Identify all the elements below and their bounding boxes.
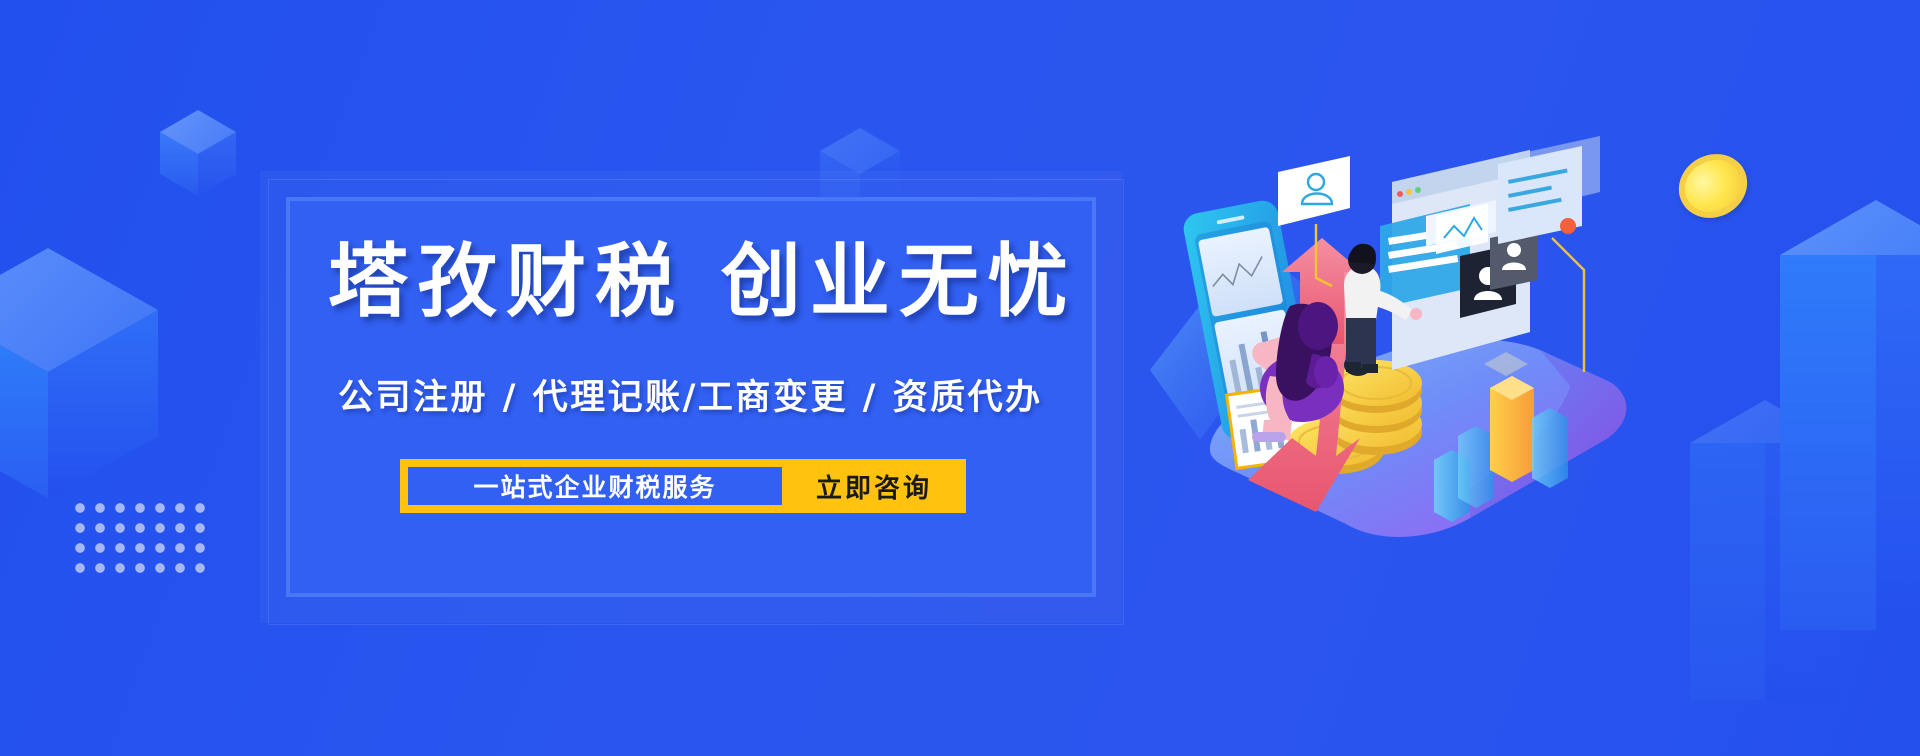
cta-bar: 一站式企业财税服务 立即咨询: [400, 459, 966, 513]
coin-disc: [1668, 142, 1759, 230]
promo-banner: 塔孜财税 创业无忧 公司注册 / 代理记账/工商变更 / 资质代办 一站式企业财…: [0, 0, 1920, 756]
services-subtitle: 公司注册 / 代理记账/工商变更 / 资质代办: [338, 369, 1043, 420]
business-finance-illustration: [1140, 120, 1640, 570]
isometric-prism-middle-right: [1690, 400, 1840, 700]
dot-grid-decoration: [70, 498, 206, 574]
prism-face-left: [1690, 443, 1765, 700]
prism-face-top: [1690, 400, 1840, 486]
headline-frame: 塔孜财税 创业无忧 公司注册 / 代理记账/工商变更 / 资质代办 一站式企业财…: [286, 197, 1096, 597]
cube-face-left: [160, 132, 198, 196]
isometric-cube-left: [0, 248, 158, 498]
cube-face-top: [0, 248, 158, 372]
cube-face-left: [0, 310, 48, 498]
prism-face-right: [1876, 255, 1920, 630]
gold-coin-icon-top-right: [1668, 142, 1759, 230]
isometric-prism-right: [1780, 200, 1920, 630]
cube-face-right: [48, 310, 158, 498]
cube-face-top: [160, 110, 236, 154]
prism-face-left: [1780, 255, 1876, 630]
consult-now-button[interactable]: 立即咨询: [782, 468, 966, 505]
page-title: 塔孜财税 创业无忧: [328, 239, 1077, 325]
cube-face-right: [198, 132, 236, 196]
isometric-cube-small-top-left: [160, 110, 236, 196]
prism-face-right: [1765, 443, 1840, 700]
cta-tagline: 一站式企业财税服务: [408, 467, 782, 505]
cube-face-top: [820, 128, 900, 174]
prism-face-top: [1780, 200, 1920, 310]
